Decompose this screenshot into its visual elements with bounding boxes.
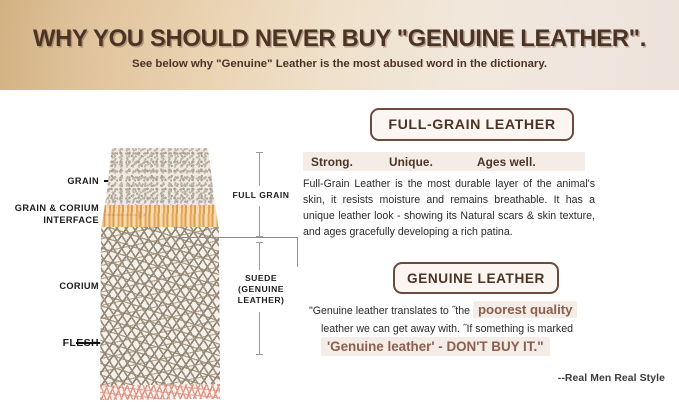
full-grain-tagline: Strong. Unique. Ages well.: [303, 152, 585, 171]
divider-horizontal: [180, 237, 298, 238]
tagline-unique: Unique.: [389, 155, 477, 169]
header-banner: WHY YOU SHOULD NEVER BUY "GENUINE LEATHE…: [0, 0, 679, 90]
bracket-label-suede: SUEDE (GENUINE LEATHER): [228, 273, 294, 306]
quote-line1-prefix: "Genuine leather translates to ˝the: [309, 305, 470, 317]
page-subtitle: See below why "Genuine" Leather is the m…: [0, 58, 679, 70]
tagline-ages-well: Ages well.: [477, 155, 536, 169]
infographic-page: WHY YOU SHOULD NEVER BUY "GENUINE LEATHE…: [0, 0, 679, 420]
corium-layer: [100, 227, 220, 387]
label-grain: GRAIN: [13, 175, 99, 187]
genuine-leather-heading-badge: GENUINE LEATHER: [393, 262, 559, 294]
tagline-strong: Strong.: [311, 155, 389, 169]
page-title: WHY YOU SHOULD NEVER BUY "GENUINE LEATHE…: [10, 25, 669, 53]
right-content-panel: FULL-GRAIN LEATHER Strong. Unique. Ages …: [295, 90, 679, 420]
full-grain-body-text: Full-Grain Leather is the most durable l…: [303, 176, 595, 240]
genuine-leather-quote: "Genuine leather translates to ˝the poor…: [303, 301, 603, 357]
bracket-label-full-grain: FULL GRAIN: [228, 190, 294, 201]
attribution-credit: --Real Men Real Style: [558, 373, 665, 384]
quote-highlight-poorest-quality: poorest quality: [473, 301, 578, 318]
label-corium: CORIUM: [13, 280, 99, 292]
interface-layer: [100, 205, 220, 229]
grain-layer: [100, 148, 220, 208]
leather-layer-stack: [100, 148, 220, 418]
leather-cross-section-diagram: GRAIN GRAIN & CORIUM INTERFACE CORIUM FL…: [0, 90, 295, 420]
label-grain-corium-interface: GRAIN & CORIUM INTERFACE: [0, 202, 99, 226]
full-grain-heading-badge: FULL-GRAIN LEATHER: [370, 108, 574, 141]
flesh-layer: [100, 384, 220, 400]
quote-line2: leather we can get away with. ˝If someth…: [303, 320, 603, 338]
quote-highlight-dont-buy-it: 'Genuine leather' - DON'T BUY IT.": [321, 337, 550, 356]
